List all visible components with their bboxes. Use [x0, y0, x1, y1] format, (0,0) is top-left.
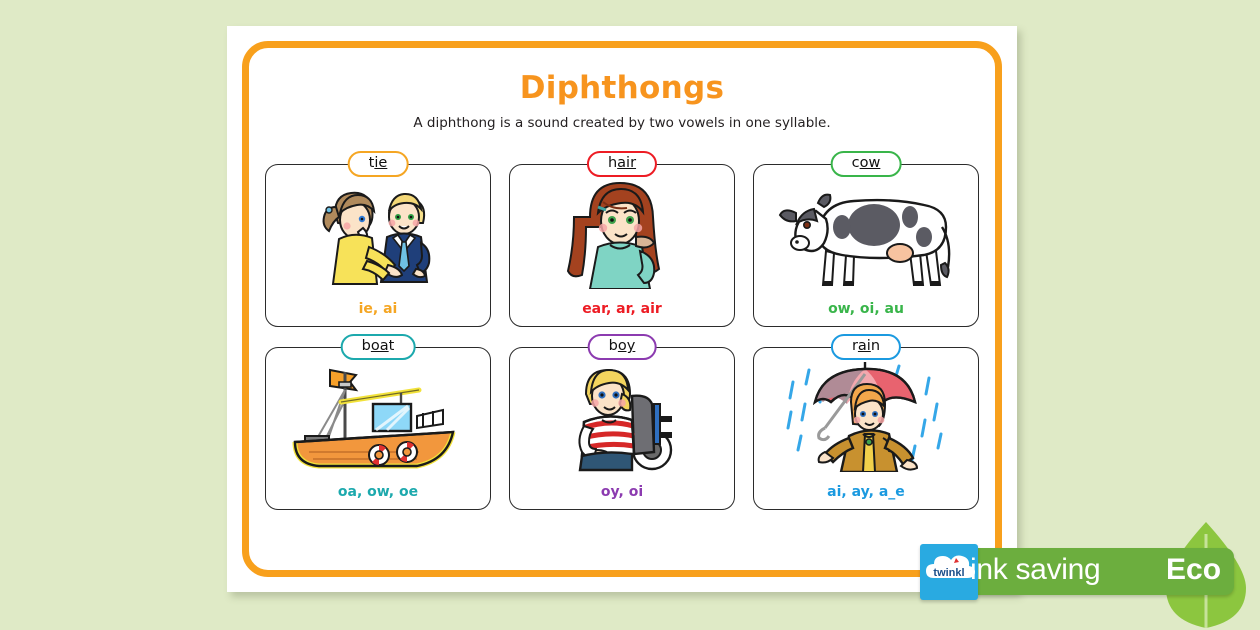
- card-image-rain: [754, 360, 978, 472]
- word-prefix: b: [362, 338, 371, 354]
- card-image-boy: [510, 360, 734, 472]
- word-pill-boat: boat: [341, 334, 416, 360]
- sounds-cow: ow, oi, au: [754, 301, 978, 317]
- word-pill-tie: tie: [348, 151, 409, 177]
- card-hair[interactable]: hair: [509, 164, 735, 327]
- word-underlined-part: air: [617, 155, 636, 171]
- card-cow[interactable]: cow: [753, 164, 979, 327]
- word-prefix: b: [609, 338, 618, 354]
- card-boy[interactable]: boy: [509, 347, 735, 510]
- word-underlined-part: oa: [371, 338, 389, 354]
- sounds-boat: oa, ow, oe: [266, 484, 490, 500]
- word-underlined-part: ow: [860, 155, 881, 171]
- word-pill-boy: boy: [588, 334, 657, 360]
- word-prefix: h: [608, 155, 617, 171]
- word-pill-cow: cow: [831, 151, 902, 177]
- sounds-boy: oy, oi: [510, 484, 734, 500]
- card-image-cow: [754, 177, 978, 289]
- diphthong-card-grid: tie: [265, 164, 979, 510]
- sounds-rain: ai, ay, a_e: [754, 484, 978, 500]
- word-pill-rain: rain: [831, 334, 901, 360]
- card-image-boat: [266, 360, 490, 472]
- ink-saving-label: ink saving: [970, 553, 1100, 587]
- poster-header: Diphthongs A diphthong is a sound create…: [227, 70, 1017, 131]
- twinkl-eco-watermark: twinkl ink saving Eco: [908, 536, 1260, 630]
- poster-page: Diphthongs A diphthong is a sound create…: [227, 26, 1017, 592]
- card-image-tie: [266, 177, 490, 289]
- card-image-hair: [510, 177, 734, 289]
- twinkl-wordmark: twinkl: [933, 567, 964, 579]
- card-rain[interactable]: rain: [753, 347, 979, 510]
- page-title: Diphthongs: [227, 70, 1017, 106]
- sounds-hair: ear, ar, air: [510, 301, 734, 317]
- eco-label: Eco: [1166, 553, 1221, 587]
- word-suffix: t: [389, 338, 395, 354]
- card-boat[interactable]: boat: [265, 347, 491, 510]
- word-underlined-part: ai: [858, 338, 871, 354]
- word-underlined-part: ie: [374, 155, 387, 171]
- word-underlined-part: oy: [618, 338, 635, 354]
- card-tie[interactable]: tie: [265, 164, 491, 327]
- sounds-tie: ie, ai: [266, 301, 490, 317]
- word-pill-hair: hair: [587, 151, 657, 177]
- word-prefix: c: [852, 155, 860, 171]
- page-subtitle: A diphthong is a sound created by two vo…: [227, 115, 1017, 131]
- word-suffix: n: [871, 338, 880, 354]
